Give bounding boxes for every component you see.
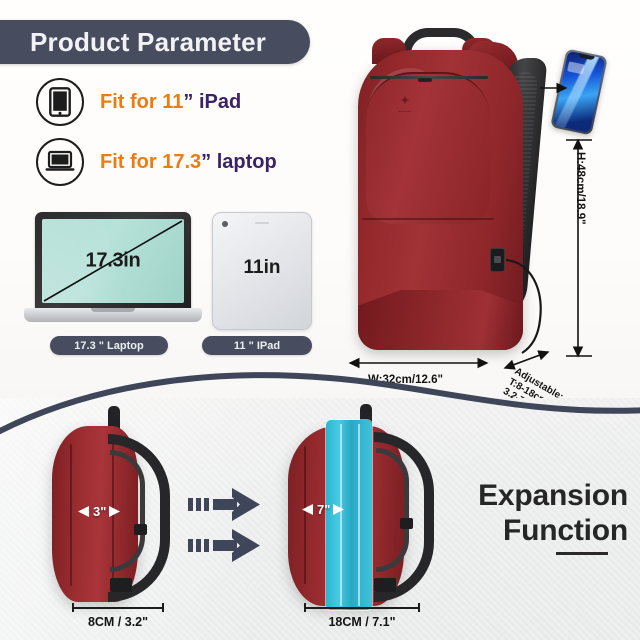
expanded-caption-block: 18CM / 7.1": [292, 603, 432, 629]
feature-size: 11: [162, 91, 183, 113]
collapsed-depth-label: 3": [90, 504, 109, 519]
laptop-illustration: 17.3in: [24, 212, 202, 328]
tablet-icon: [36, 78, 84, 126]
feature-device: laptop: [217, 151, 277, 173]
feature-quote: ”: [201, 151, 211, 173]
device-label-ipad: 11 " IPad: [202, 336, 312, 355]
dimension-height: H:48cm/18.9": [574, 152, 586, 225]
expanded-depth-label: 7": [314, 502, 333, 517]
top-section: Product Parameter Fit for 11” iPad: [0, 0, 640, 400]
backpack-seam: [362, 218, 494, 220]
collapsed-measure-rule: [72, 603, 164, 612]
expansion-title: Expansion Function: [452, 478, 628, 548]
expansion-title-line-1: Expansion: [452, 478, 628, 513]
collapsed-buckle: [134, 524, 147, 535]
expansion-title-line-2: Function: [452, 513, 628, 548]
camera-icon: [222, 221, 228, 227]
expanded-strap-inner: [376, 448, 409, 572]
ipad-body: 11in: [212, 212, 312, 330]
collapsed-depth-measure: 3": [78, 504, 121, 519]
collapsed-bottom-buckle: [110, 578, 132, 592]
page-title: Product Parameter: [0, 27, 266, 58]
feature-prefix: Fit for: [100, 151, 162, 173]
ipad-screen-label: 11in: [213, 257, 311, 279]
ipad-speaker-slit: [255, 222, 269, 224]
backpack-front-panel: [366, 72, 490, 224]
expansion-title-underline: [556, 552, 608, 555]
backpack-expanded-illustration: 7": [288, 416, 478, 608]
backpack-main-illustration: ✦ •••••••: [344, 22, 554, 362]
expanded-caption: 18CM / 7.1": [292, 615, 432, 629]
phone-frame: [550, 49, 608, 136]
feature-size: 17.3: [162, 151, 201, 173]
logo-mark-icon: ✦: [400, 96, 409, 107]
feature-text-ipad: Fit for 11” iPad: [100, 91, 241, 114]
brand-logo: ✦ •••••••: [386, 94, 424, 116]
laptop-icon: [36, 138, 84, 186]
smartphone-illustration: [550, 49, 608, 136]
expansion-arrows: [188, 484, 284, 568]
laptop-lid: 17.3in: [35, 212, 191, 310]
laptop-screen-label: 17.3in: [42, 250, 184, 273]
charging-cable: [500, 254, 570, 354]
collapsed-seam-front: [70, 444, 72, 586]
header-banner: Product Parameter: [0, 20, 310, 64]
expansion-panel-line-2: [358, 424, 360, 606]
feature-prefix: Fit for: [100, 91, 162, 113]
expanded-measure-rule: [304, 603, 420, 612]
expanded-depth-measure: 7": [302, 502, 345, 517]
section-divider-curve: [0, 370, 640, 440]
feature-row-ipad: Fit for 11” iPad: [36, 78, 241, 126]
device-label-laptop: 17.3 " Laptop: [50, 336, 168, 355]
expanded-buckle: [400, 518, 413, 529]
feature-device: iPad: [199, 91, 241, 113]
backpack-bottom-panel: [358, 290, 523, 350]
logo-wordmark: •••••••: [398, 109, 411, 114]
laptop-base: [24, 308, 202, 322]
collapsed-caption: 8CM / 3.2": [58, 615, 178, 629]
feature-text-laptop: Fit for 17.3” laptop: [100, 151, 277, 174]
expanded-bottom-buckle: [374, 578, 396, 592]
laptop-notch: [91, 308, 135, 312]
backpack-zipper-pull: [418, 78, 432, 82]
collapsed-caption-block: 8CM / 3.2": [58, 603, 178, 629]
laptop-screen: 17.3in: [42, 219, 184, 303]
product-infographic: Product Parameter Fit for 11” iPad: [0, 0, 640, 640]
feature-quote: ”: [183, 91, 193, 113]
feature-row-laptop: Fit for 17.3” laptop: [36, 138, 277, 186]
ipad-illustration: 11in: [212, 212, 310, 328]
